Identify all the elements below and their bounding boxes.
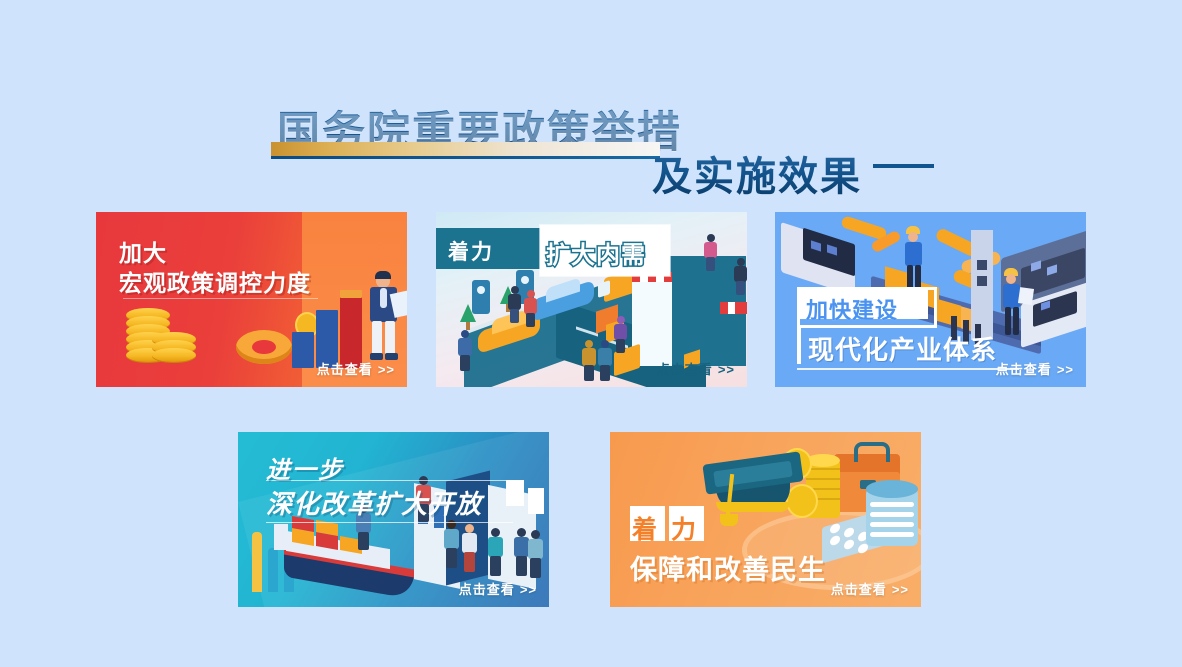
card-5-title-char-2: 力	[671, 510, 696, 546]
policy-card-modern-industrial-system[interactable]: 加快建设 现代化产业体系 点击查看>>	[775, 212, 1086, 387]
title-gold-underline	[271, 142, 660, 156]
card-1-title-line-1: 加大	[119, 234, 167, 268]
card-2-cta-label: 点击查看	[657, 363, 713, 378]
card-4-cta-link[interactable]: 点击查看>>	[459, 579, 537, 598]
card-3-cta-label: 点击查看	[996, 363, 1052, 378]
card-4-title-line-2: 深化改革扩大开放	[266, 484, 482, 521]
card-1-title-line-2: 宏观政策调控力度	[119, 264, 311, 298]
card-3-title-line-2: 现代化产业体系	[808, 330, 997, 367]
title-blue-rule	[271, 156, 660, 159]
card-2-title-line-1: 着力	[448, 236, 494, 266]
card-1-cta-link[interactable]: 点击查看>>	[317, 359, 395, 378]
card-4-cta-label: 点击查看	[459, 583, 515, 598]
card-2-title-line-2: 扩大内需	[546, 235, 646, 270]
card-1-cta-label: 点击查看	[317, 363, 373, 378]
policy-card-macro-policy[interactable]: 加大 宏观政策调控力度 点击查看>>	[96, 212, 407, 387]
card-3-title-left-bar	[797, 328, 801, 364]
card-2-cta-link[interactable]: 点击查看>>	[657, 359, 735, 378]
policy-card-expand-domestic-demand[interactable]: 着力 扩大内需 点击查看>>	[436, 212, 747, 387]
card-3-title-rule	[797, 368, 1019, 370]
page-header: 国务院重要政策举措 及实施效果	[0, 46, 1182, 156]
page-title-line-2: 及实施效果	[652, 144, 862, 202]
card-4-cta-arrow-icon: >>	[520, 582, 537, 597]
card-4-title-line-1: 进一步	[266, 450, 344, 485]
card-2-cta-arrow-icon: >>	[718, 362, 735, 377]
title-trailing-dash	[873, 164, 934, 168]
card-3-title-line-1: 加快建设	[806, 293, 898, 325]
card-5-title-char-1: 着	[632, 510, 657, 546]
policy-card-deepen-reform-open-up[interactable]: 进一步 深化改革扩大开放 点击查看>>	[238, 432, 549, 607]
card-5-cta-label: 点击查看	[831, 583, 887, 598]
card-3-cta-arrow-icon: >>	[1057, 362, 1074, 377]
card-4-rule-bottom	[266, 522, 513, 523]
card-5-cta-arrow-icon: >>	[892, 582, 909, 597]
card-1-title-rule	[123, 298, 318, 299]
card-5-title-line-2: 保障和改善民生	[630, 548, 826, 587]
card-1-cta-arrow-icon: >>	[378, 362, 395, 377]
card-5-cta-link[interactable]: 点击查看>>	[831, 579, 909, 598]
policy-card-improve-peoples-livelihood[interactable]: 着 力 保障和改善民生 点击查看>>	[610, 432, 921, 607]
